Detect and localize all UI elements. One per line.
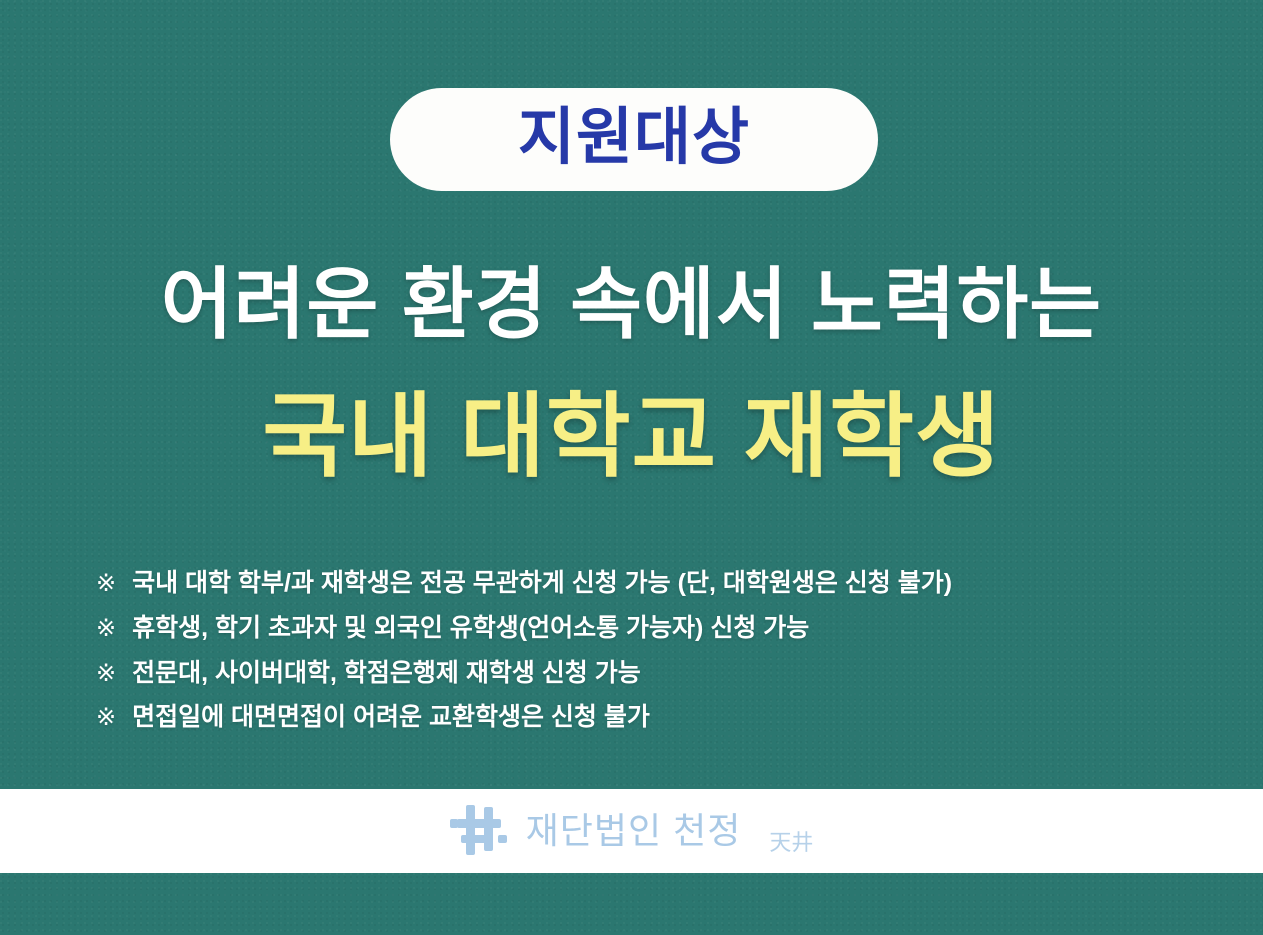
- eligibility-notes-list: ※ 국내 대학 학부/과 재학생은 전공 무관하게 신청 가능 (단, 대학원생…: [96, 568, 1196, 747]
- organization-hanja: 天井: [769, 832, 813, 857]
- note-item: ※ 국내 대학 학부/과 재학생은 전공 무관하게 신청 가능 (단, 대학원생…: [96, 568, 1196, 599]
- note-item: ※ 전문대, 사이버대학, 학점은행제 재학생 신청 가능: [96, 658, 1196, 689]
- headline-line-highlight: 국내 대학교 재학생: [0, 388, 1263, 487]
- headline-block: 어려운 환경 속에서 노력하는 국내 대학교 재학생: [0, 262, 1263, 488]
- note-item: ※ 휴학생, 학기 초과자 및 외국인 유학생(언어소통 가능자) 신청 가능: [96, 613, 1196, 644]
- well-mark-icon: [450, 805, 508, 857]
- headline-line-primary: 어려운 환경 속에서 노력하는: [0, 262, 1263, 346]
- footer-band: 재단법인 천정 天井: [0, 789, 1263, 873]
- note-item-text: 국내 대학 학부/과 재학생은 전공 무관하게 신청 가능 (단, 대학원생은 …: [132, 568, 952, 598]
- note-item-text: 면접일에 대면면접이 어려운 교환학생은 신청 불가: [132, 702, 650, 732]
- note-item-text: 전문대, 사이버대학, 학점은행제 재학생 신청 가능: [132, 658, 641, 688]
- note-item: ※ 면접일에 대면면접이 어려운 교환학생은 신청 불가: [96, 702, 1196, 733]
- reference-mark-icon: ※: [96, 570, 116, 599]
- poster-canvas: 지원대상 어려운 환경 속에서 노력하는 국내 대학교 재학생 ※ 국내 대학 …: [0, 0, 1263, 935]
- title-badge-label: 지원대상: [518, 107, 750, 173]
- reference-mark-icon: ※: [96, 660, 116, 689]
- reference-mark-icon: ※: [96, 615, 116, 644]
- footer-bottom-texture: [0, 873, 1263, 935]
- footer-bottom-strip: [0, 873, 1263, 935]
- organization-name: 재단법인 천정: [526, 813, 742, 849]
- title-badge: 지원대상: [390, 88, 878, 191]
- reference-mark-icon: ※: [96, 704, 116, 733]
- organization-logo: 재단법인 천정 天井: [450, 805, 814, 857]
- note-item-text: 휴학생, 학기 초과자 및 외국인 유학생(언어소통 가능자) 신청 가능: [132, 613, 809, 643]
